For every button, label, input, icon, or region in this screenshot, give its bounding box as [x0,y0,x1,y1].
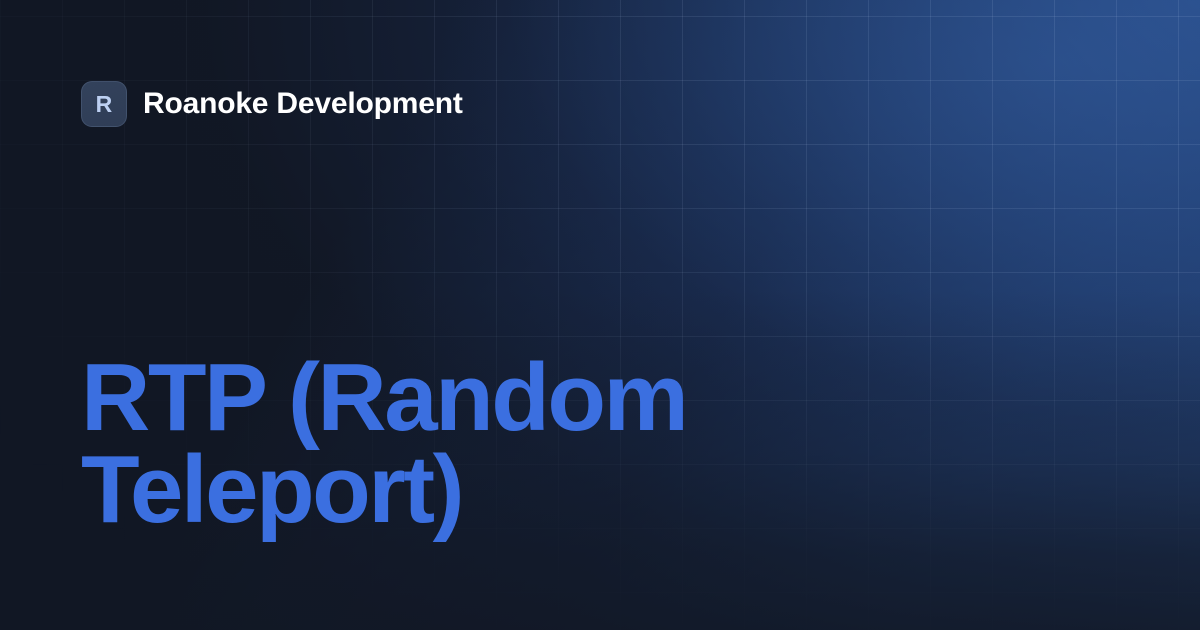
social-preview-card: R Roanoke Development RTP (Random Telepo… [0,0,1200,630]
avatar: R [81,81,127,127]
avatar-letter-badge-icon: R [96,93,113,116]
card-content: R Roanoke Development RTP (Random Telepo… [0,0,1200,630]
brand-header: R Roanoke Development [81,81,463,127]
page-title: RTP (Random Teleport) [81,352,741,536]
brand-name-label: Roanoke Development [143,89,463,119]
